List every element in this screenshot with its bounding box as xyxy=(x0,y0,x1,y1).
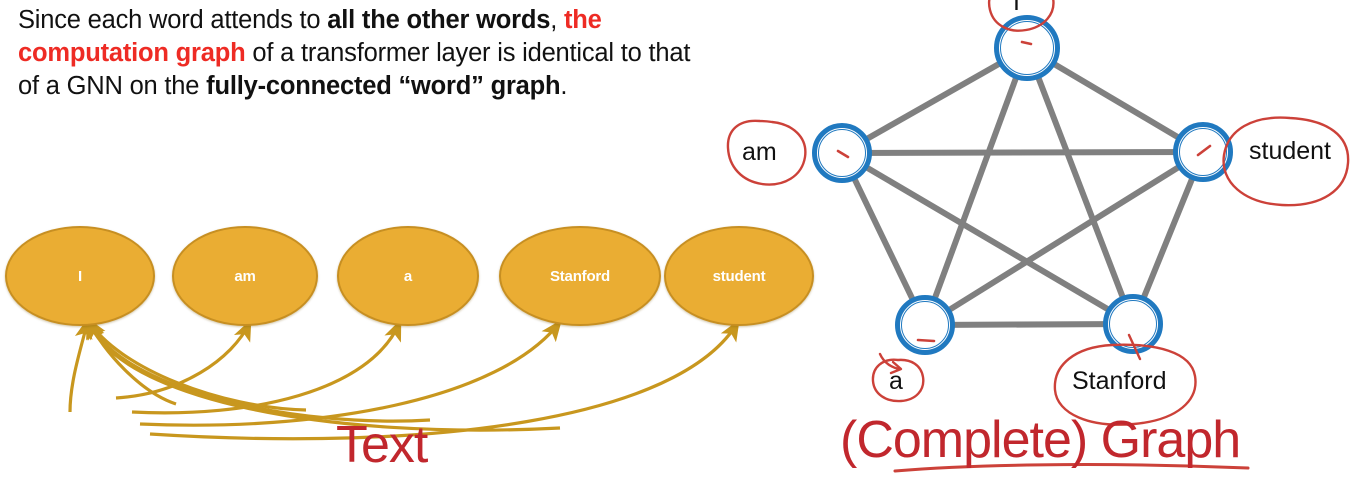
graph-node-inner-ring xyxy=(901,301,949,349)
graph-edge xyxy=(842,152,1203,153)
graph-node-stanford[interactable] xyxy=(1103,294,1163,354)
slide-canvas: Since each word attends to all the other… xyxy=(0,0,1361,485)
caption-text-left: Text xyxy=(336,415,427,475)
graph-edge xyxy=(925,324,1133,325)
graph-node-student[interactable] xyxy=(1173,122,1233,182)
graph-edge xyxy=(925,152,1203,325)
word-ellipse-label: Stanford xyxy=(550,268,610,285)
word-ellipse-stanford[interactable]: Stanford xyxy=(499,226,661,326)
graph-node-inner-ring xyxy=(1109,300,1157,348)
paragraph-segment-3: , xyxy=(550,6,564,34)
graph-label-stanford: Stanford xyxy=(1072,367,1167,396)
paragraph-segment-7: . xyxy=(560,72,567,100)
graph-node-inner-ring xyxy=(1000,21,1054,75)
graph-node-a[interactable] xyxy=(895,295,955,355)
graph-label-am: am xyxy=(742,138,777,167)
slide-paragraph: Since each word attends to all the other… xyxy=(18,4,698,103)
word-ellipse-label: a xyxy=(404,268,412,285)
graph-node-I[interactable] xyxy=(994,15,1060,81)
graph-label-a: a xyxy=(889,367,903,396)
graph-node-am[interactable] xyxy=(812,123,872,183)
graph-node-inner-ring xyxy=(1179,128,1227,176)
graph-edge xyxy=(842,153,1133,324)
word-ellipse-am[interactable]: am xyxy=(172,226,318,326)
word-ellipse-label: student xyxy=(713,268,766,285)
graph-label-student: student xyxy=(1249,137,1331,166)
word-ellipse-I[interactable]: I xyxy=(5,226,155,326)
graph-node-inner-ring xyxy=(818,129,866,177)
word-ellipse-label: I xyxy=(78,268,82,285)
graph-edge xyxy=(1027,48,1133,324)
word-ellipse-label: am xyxy=(234,268,255,285)
caption-complete-graph: (Complete) Graph xyxy=(840,410,1240,470)
word-ellipse-a[interactable]: a xyxy=(337,226,479,326)
word-ellipse-student[interactable]: student xyxy=(664,226,814,326)
paragraph-segment-1: Since each word attends to xyxy=(18,6,327,34)
paragraph-bold-fully-connected-word-graph: fully-connected “word” graph xyxy=(206,72,560,100)
paragraph-bold-all-the-other-words: all the other words xyxy=(327,6,550,34)
graph-edge xyxy=(925,48,1027,325)
graph-label-I: I xyxy=(1013,0,1020,17)
